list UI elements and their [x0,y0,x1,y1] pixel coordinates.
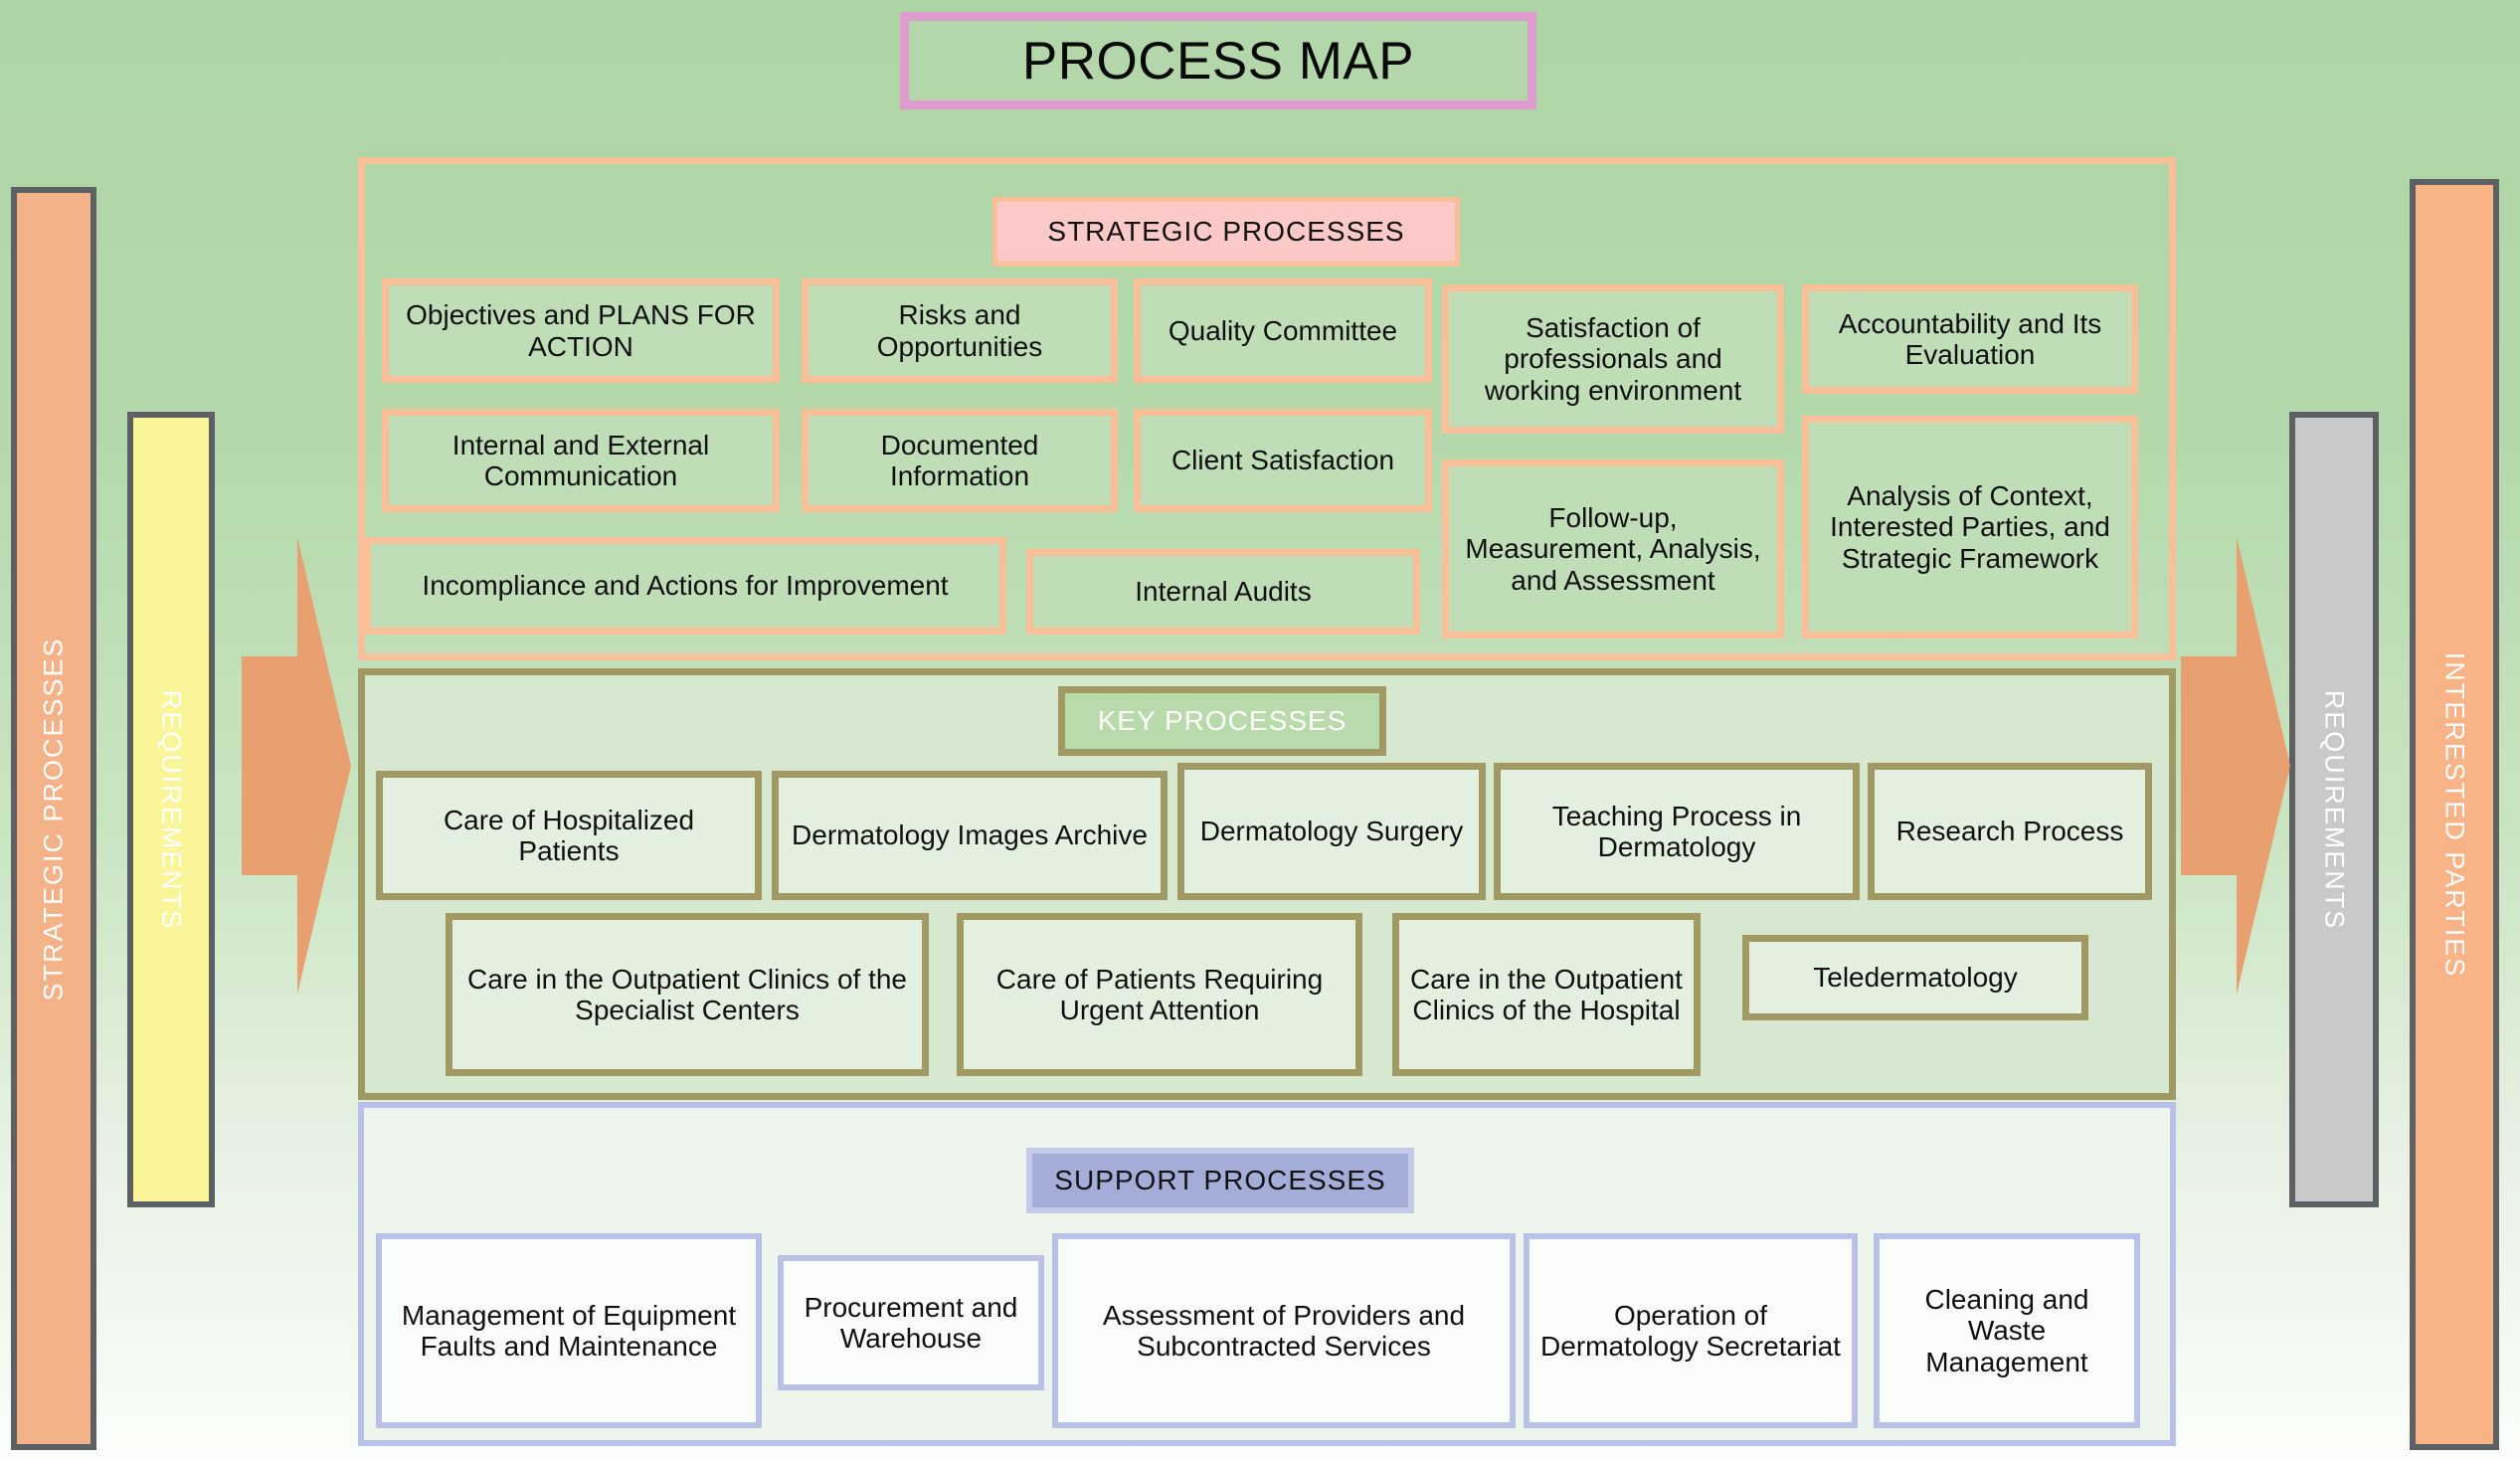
process-box-management-of-equipment-faults-and-maintenance[interactable]: Management of Equipment Faults and Maint… [376,1233,762,1428]
process-box-documented-information[interactable]: Documented Information [802,409,1118,512]
process-map-canvas: PROCESS MAP STRATEGIC PROCESSES REQUIREM… [0,0,2520,1459]
process-box-procurement-and-warehouse[interactable]: Procurement and Warehouse [778,1255,1044,1390]
process-box-accountability-and-its-evaluation[interactable]: Accountability and Its Evaluation [1802,284,2138,394]
process-box-follow-up-measurement-analysis-assessment[interactable]: Follow-up, Measurement, Analysis, and As… [1442,459,1784,638]
side-bar-interested-parties-label: INTERESTED PARTIES [2439,651,2470,978]
process-box-care-of-hospitalized-patients[interactable]: Care of Hospitalized Patients [376,771,762,900]
side-bar-requirements-right: REQUIREMENTS [2289,412,2379,1207]
process-box-internal-audits[interactable]: Internal Audits [1026,549,1420,635]
band-label-strategic-processes: STRATEGIC PROCESSES [992,197,1460,267]
process-box-care-of-patients-requiring-urgent-attention[interactable]: Care of Patients Requiring Urgent Attent… [957,913,1362,1076]
side-bar-requirements-left-label: REQUIREMENTS [156,689,187,930]
process-box-dermatology-surgery[interactable]: Dermatology Surgery [1177,763,1486,900]
page-title: PROCESS MAP [1022,31,1414,91]
side-bar-strategic-processes-left-label: STRATEGIC PROCESSES [39,637,70,1001]
side-bar-interested-parties: INTERESTED PARTIES [2410,179,2499,1450]
process-box-care-outpatient-clinics-hospital[interactable]: Care in the Outpatient Clinics of the Ho… [1392,913,1701,1076]
process-box-dermatology-images-archive[interactable]: Dermatology Images Archive [772,771,1168,900]
process-box-research-process[interactable]: Research Process [1868,763,2152,900]
process-box-risks-and-opportunities[interactable]: Risks and Opportunities [802,278,1118,383]
process-box-cleaning-and-waste-management[interactable]: Cleaning and Waste Management [1874,1233,2140,1428]
side-bar-strategic-processes-left: STRATEGIC PROCESSES [11,187,96,1450]
process-box-incompliance-and-actions-for-improvement[interactable]: Incompliance and Actions for Improvement [364,537,1006,635]
process-box-operation-of-dermatology-secretariat[interactable]: Operation of Dermatology Secretariat [1524,1233,1858,1428]
process-box-teaching-process-in-dermatology[interactable]: Teaching Process in Dermatology [1494,763,1860,900]
process-box-care-outpatient-clinics-specialist-centers[interactable]: Care in the Outpatient Clinics of the Sp… [446,913,929,1076]
flow-arrow-right-icon [2181,537,2290,995]
band-label-key-processes: KEY PROCESSES [1058,686,1386,756]
page-title-box: PROCESS MAP [900,12,1536,109]
process-box-client-satisfaction[interactable]: Client Satisfaction [1134,409,1432,512]
flow-arrow-left-icon [242,537,351,995]
process-box-assessment-of-providers-and-subcontracted-services[interactable]: Assessment of Providers and Subcontracte… [1052,1233,1516,1428]
process-box-objectives-and-plans-for-action[interactable]: Objectives and PLANS FOR ACTION [382,278,780,383]
side-bar-requirements-left: REQUIREMENTS [127,412,215,1207]
process-box-analysis-of-context[interactable]: Analysis of Context, Interested Parties,… [1802,416,2138,638]
process-box-satisfaction-of-professionals[interactable]: Satisfaction of professionals and workin… [1442,284,1784,434]
process-box-quality-committee[interactable]: Quality Committee [1134,278,1432,383]
process-box-internal-and-external-communication[interactable]: Internal and External Communication [382,409,780,512]
process-box-teledermatology[interactable]: Teledermatology [1742,935,2088,1020]
side-bar-requirements-right-label: REQUIREMENTS [2319,689,2350,930]
band-label-support-processes: SUPPORT PROCESSES [1026,1148,1414,1213]
